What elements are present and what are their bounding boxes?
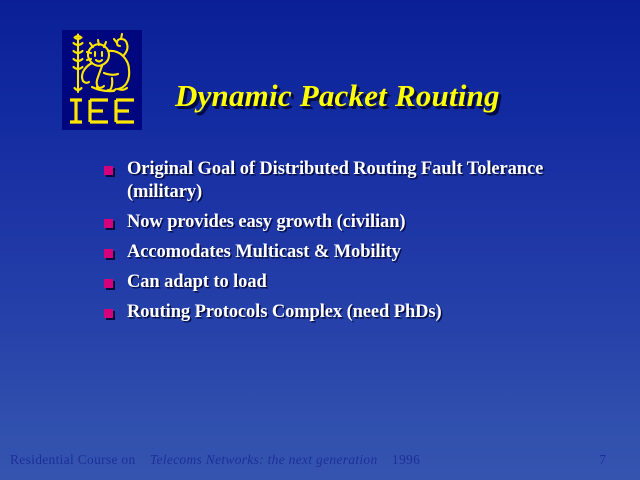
list-item: Accomodates Multicast & Mobility (104, 241, 574, 264)
footer-year: 1996 (392, 452, 420, 467)
slide-title: Dynamic Packet Routing (175, 78, 595, 114)
lion-rampant-icon (74, 34, 130, 92)
list-item-label: Original Goal of Distributed Routing Fau… (127, 158, 574, 204)
square-bullet-icon (104, 309, 113, 318)
list-item-label: Accomodates Multicast & Mobility (127, 241, 574, 264)
list-item: Original Goal of Distributed Routing Fau… (104, 158, 574, 204)
iee-wordmark (70, 100, 134, 122)
list-item-label: Routing Protocols Complex (need PhDs) (127, 301, 574, 324)
slide-footer: Residential Course on Telecoms Networks:… (10, 452, 420, 468)
square-bullet-icon (104, 279, 113, 288)
slide-canvas: Dynamic Packet Routing Original Goal of … (0, 0, 640, 480)
list-item-label: Can adapt to load (127, 271, 574, 294)
footer-prefix: Residential Course on (10, 452, 136, 467)
page-number: 7 (599, 452, 606, 468)
list-item: Routing Protocols Complex (need PhDs) (104, 301, 574, 324)
footer-course-title: Telecoms Networks: the next generation (150, 452, 378, 467)
square-bullet-icon (104, 249, 113, 258)
square-bullet-icon (104, 166, 113, 175)
bullet-list: Original Goal of Distributed Routing Fau… (104, 158, 574, 331)
iee-logo-artwork (62, 30, 142, 130)
square-bullet-icon (104, 219, 113, 228)
list-item: Can adapt to load (104, 271, 574, 294)
list-item: Now provides easy growth (civilian) (104, 211, 574, 234)
list-item-label: Now provides easy growth (civilian) (127, 211, 574, 234)
iee-logo (62, 30, 142, 130)
